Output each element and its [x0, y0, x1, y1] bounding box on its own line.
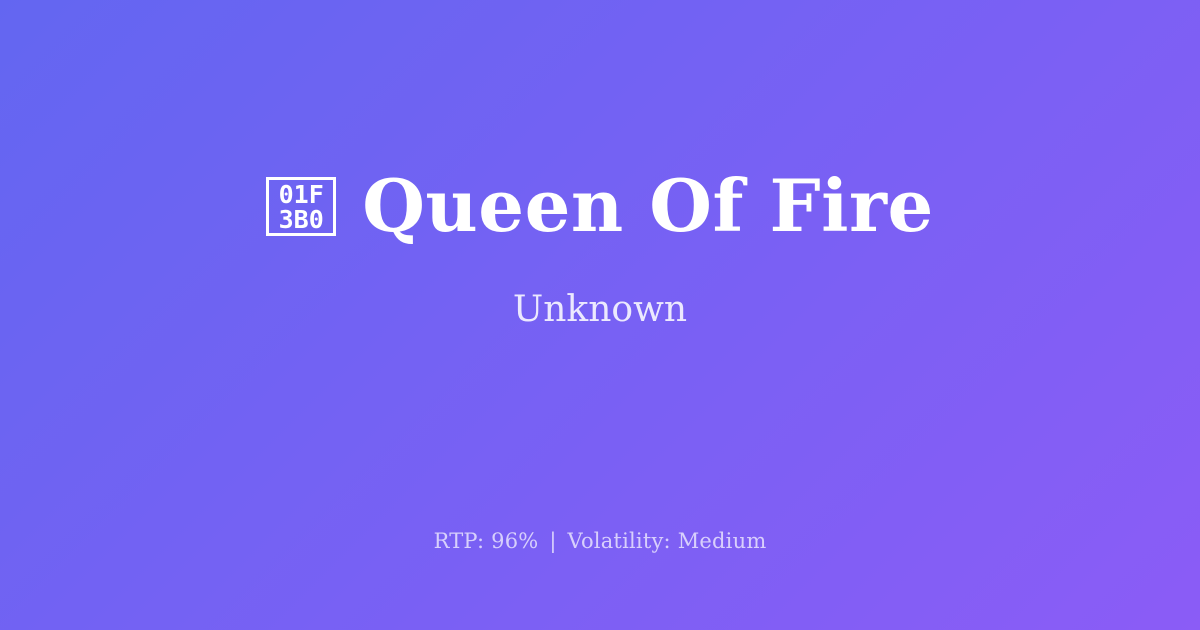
stats-separator: |	[545, 529, 560, 553]
volatility-value: Medium	[678, 529, 767, 553]
rtp-label: RTP:	[434, 529, 485, 553]
provider-subtitle: Unknown	[513, 288, 687, 331]
game-stats-line: RTP: 96% | Volatility: Medium	[0, 528, 1200, 555]
title-row: 01F 3B0 Queen Of Fire	[266, 169, 934, 244]
volatility-label: Volatility:	[568, 529, 671, 553]
glyph-hex-bottom: 3B0	[279, 207, 324, 232]
glyph-hex-top: 01F	[279, 182, 324, 207]
hero-block: 01F 3B0 Queen Of Fire Unknown	[0, 0, 1200, 500]
og-share-card: 01F 3B0 Queen Of Fire Unknown RTP: 96% |…	[0, 0, 1200, 630]
page-title: Queen Of Fire	[362, 169, 934, 244]
slot-machine-icon: 01F 3B0	[266, 177, 336, 236]
rtp-value: 96%	[491, 529, 538, 553]
